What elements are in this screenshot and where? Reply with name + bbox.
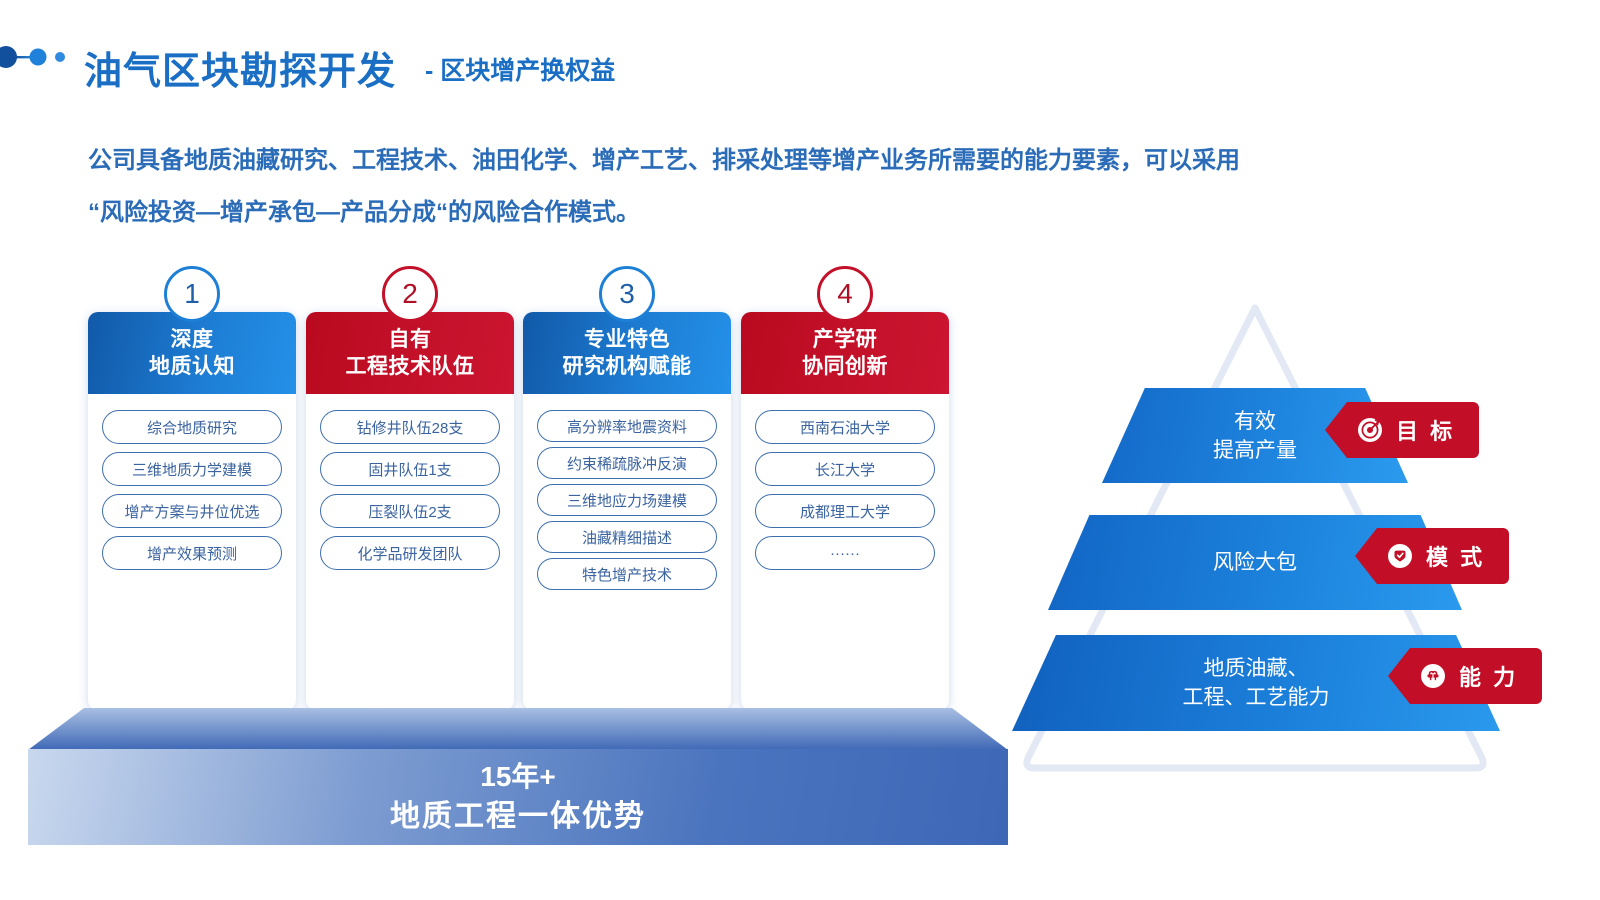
pyramid-tag-mode[interactable]: 模 式 (1355, 528, 1509, 584)
platform-line-1: 15年+ (480, 757, 556, 797)
platform-line-2: 地质工程一体优势 (390, 797, 646, 837)
platform-front-face: 15年+ 地质工程一体优势 (28, 749, 1008, 845)
band-line-1: 有效 (1234, 407, 1276, 436)
pyramid-tag-capability[interactable]: 能 力 (1388, 648, 1542, 704)
brain-icon (1420, 663, 1446, 689)
target-icon (1357, 417, 1383, 443)
tag-label: 能 力 (1459, 660, 1518, 692)
base-platform: 15年+ 地质工程一体优势 (0, 0, 1040, 900)
pyramid-tag-goal[interactable]: 目 标 (1325, 402, 1479, 458)
band-line-1: 风险大包 (1213, 548, 1297, 577)
band-line-2: 提高产量 (1213, 436, 1297, 465)
platform-top-surface (28, 708, 1008, 750)
tag-label: 模 式 (1426, 540, 1485, 572)
check-badge-icon (1387, 543, 1413, 569)
band-line-1: 地质油藏、 (1204, 654, 1309, 683)
pyramid-diagram: 有效 提高产量 风险大包 地质油藏、 工程、工艺能力 目 标 (1010, 290, 1590, 790)
tag-label: 目 标 (1396, 414, 1455, 446)
band-line-2: 工程、工艺能力 (1183, 683, 1330, 712)
